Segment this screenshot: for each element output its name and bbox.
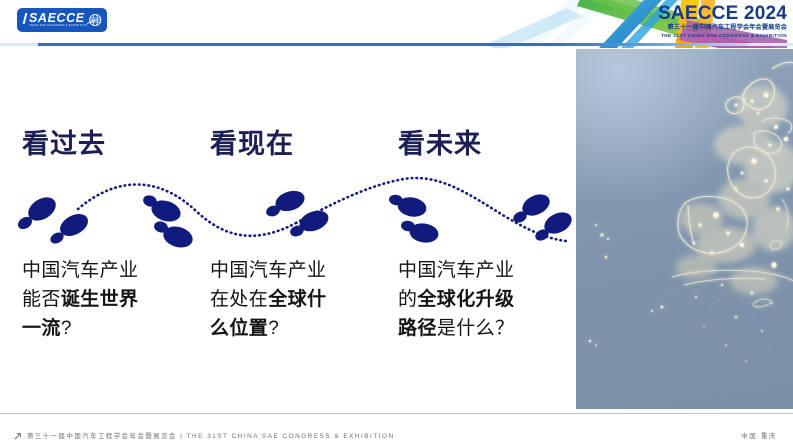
footprints-trail-icon <box>0 161 576 269</box>
footprint-pair-5 <box>511 190 575 243</box>
footer-left-block: 第三十一届中国汽车工程学会年会暨展览会 | THE 31ST CHINA SAE… <box>14 431 395 440</box>
q-line-bold: 么位置 <box>210 318 268 339</box>
footprint-pair-4 <box>388 194 439 245</box>
header-rule-main <box>38 43 748 46</box>
footer-left-text: 第三十一届中国汽车工程学会年会暨展览会 | THE 31ST CHINA SAE… <box>27 431 395 440</box>
q-line-bold: 全球什 <box>268 289 326 310</box>
footer-divider <box>0 413 793 414</box>
section-heading-past: 看过去 <box>22 128 106 160</box>
q-line-bold: 一流 <box>22 318 61 339</box>
section-heading-future: 看未来 <box>398 128 482 160</box>
footprint-pair-1 <box>16 193 92 246</box>
q-line: 中国汽车产业 <box>398 260 514 281</box>
q-line-bold: 路径 <box>398 318 437 339</box>
question-column-future: 中国汽车产业 的全球化升级 路径是什么？ <box>398 256 570 343</box>
q-line: 中国汽车产业 <box>210 260 326 281</box>
slide-footer: 第三十一届中国汽车工程学会年会暨展览会 | THE 31ST CHINA SAE… <box>0 409 793 446</box>
question-column-present: 中国汽车产业 在处在全球什 么位置? <box>210 256 382 343</box>
q-line-tail: 是什么？ <box>437 318 515 339</box>
earth-night-lights-overlay <box>576 49 793 409</box>
slide-header: SAECCE CHINA SAE CONGRESS & EXHIBITION <box>0 0 793 48</box>
congress-title-block: SAECCE 2024 第三十一届中国汽车工程学会年会暨展览会 THE 31ST… <box>627 3 787 39</box>
question-column-past: 中国汽车产业 能否诞生世界 一流? <box>22 256 194 343</box>
q-line-tail: ? <box>61 318 72 339</box>
congress-title-cn: 第三十一届中国汽车工程学会年会暨展览会 <box>627 24 787 32</box>
globe-icon <box>87 12 102 28</box>
logo-subwordmark: CHINA SAE CONGRESS & EXHIBITION <box>29 24 87 28</box>
q-line: 中国汽车产业 <box>22 260 138 281</box>
q-line-tail: ? <box>268 318 279 339</box>
logo-slash-mark <box>23 13 28 24</box>
congress-title-main: SAECCE 2024 <box>627 3 787 24</box>
arrow-up-right-icon <box>14 432 22 440</box>
q-line: 能否 <box>22 289 61 310</box>
slide-root: SAECCE CHINA SAE CONGRESS & EXHIBITION <box>0 0 793 446</box>
logo-wordmark: SAECCE <box>29 11 85 25</box>
earth-night-lights-image <box>576 49 793 409</box>
footprint-pair-3 <box>265 187 332 238</box>
section-heading-present: 看现在 <box>210 128 294 160</box>
saecce-logo: SAECCE CHINA SAE CONGRESS & EXHIBITION <box>18 9 106 31</box>
q-line: 的 <box>398 289 417 310</box>
q-line-bold: 诞生世界 <box>61 289 139 310</box>
slide-content: 看过去 看现在 看未来 <box>0 49 576 409</box>
q-line-bold: 全球化升级 <box>417 289 514 310</box>
footer-right-text: 中国·重庆 <box>741 431 777 440</box>
congress-title-en: THE 31ST CHINA-SAE CONGRESS & EXHIBITION <box>627 32 787 39</box>
q-line: 在处在 <box>210 289 268 310</box>
